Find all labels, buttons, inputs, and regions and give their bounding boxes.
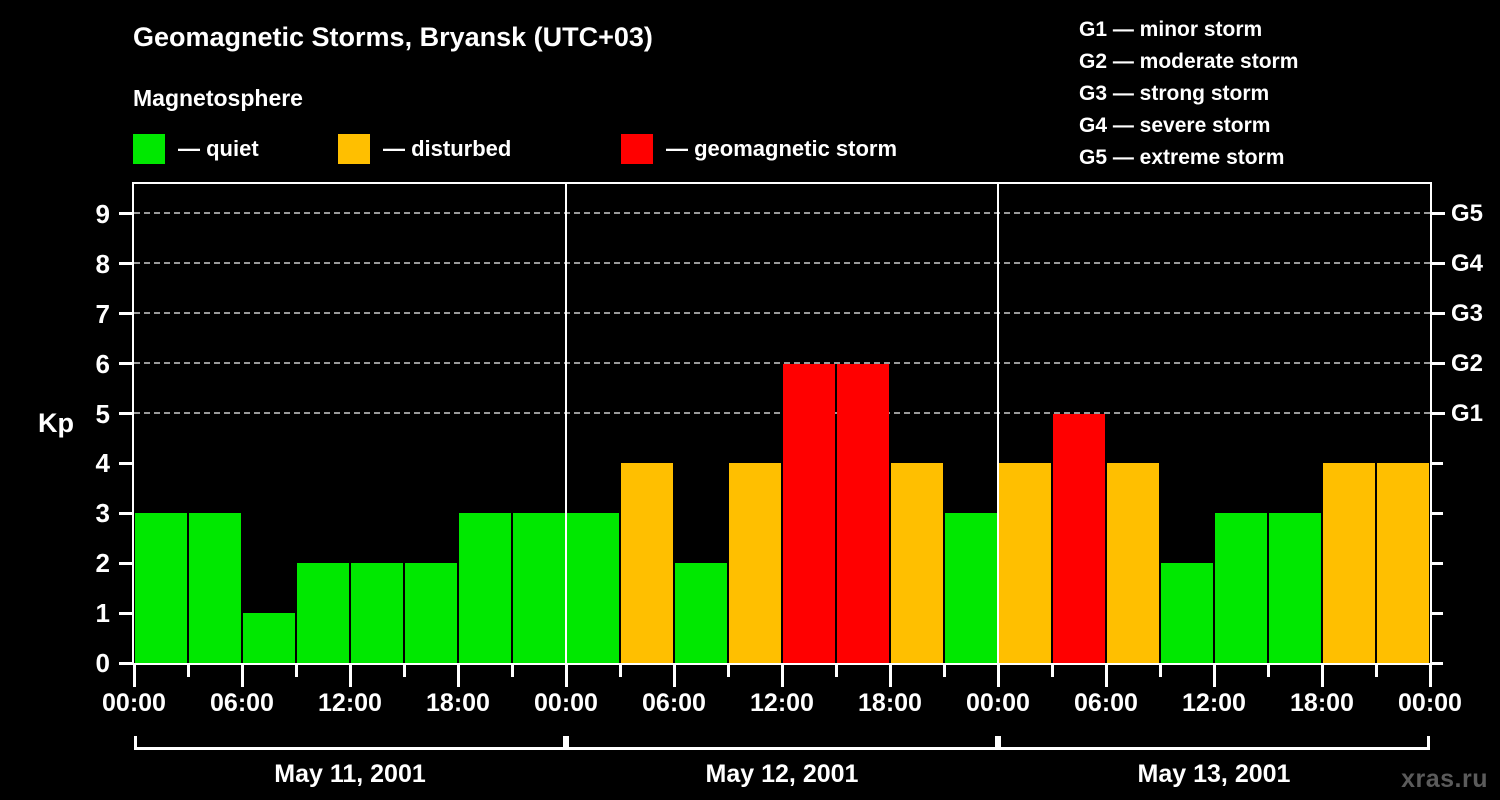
- legend-swatch-quiet: [133, 134, 165, 164]
- date-bracket-3: [998, 736, 1430, 750]
- bar: [567, 513, 619, 663]
- date-label-2: May 12, 2001: [706, 760, 859, 789]
- time-tick-major-48h: [997, 665, 1000, 687]
- time-tick-label-10: 12:00: [1182, 689, 1246, 718]
- g-tick-label-G5: G5: [1451, 202, 1483, 226]
- time-tick-minor-51h: [1051, 665, 1054, 677]
- time-tick-label-0: 00:00: [102, 689, 166, 718]
- gridline-kp-9: [134, 212, 1430, 214]
- g-scale-line-5: G5 — extreme storm: [1079, 142, 1298, 174]
- kp-tick-mark-1: [119, 612, 132, 615]
- bar: [297, 563, 349, 663]
- kp-tick-mark-4: [119, 462, 132, 465]
- time-tick-major-72h: [1429, 665, 1432, 687]
- kp-tick-mark-0: [119, 662, 132, 665]
- kp-axis-title: Kp: [38, 408, 74, 439]
- time-tick-label-8: 00:00: [966, 689, 1030, 718]
- time-tick-major-12h: [349, 665, 352, 687]
- g-scale-line-2: G2 — moderate storm: [1079, 46, 1298, 78]
- time-tick-major-18h: [457, 665, 460, 687]
- bar: [1269, 513, 1321, 663]
- kp-tick-mark-9: [119, 212, 132, 215]
- time-tick-minor-69h: [1375, 665, 1378, 677]
- time-tick-major-30h: [673, 665, 676, 687]
- gridline-kp-5: [134, 412, 1430, 414]
- time-tick-label-12: 00:00: [1398, 689, 1462, 718]
- gridline-kp-6: [134, 362, 1430, 364]
- time-tick-minor-39h: [835, 665, 838, 677]
- bar: [189, 513, 241, 663]
- g-tick-mark-G4: [1432, 262, 1445, 265]
- bar: [891, 463, 943, 663]
- kp-tick-label-2: 2: [70, 550, 110, 576]
- kp-tick-mark-8: [119, 262, 132, 265]
- kp-tick-mark-7: [119, 312, 132, 315]
- plot-inner: [134, 184, 1430, 663]
- bar: [621, 463, 673, 663]
- kp-tick-label-5: 5: [70, 401, 110, 427]
- bar: [783, 364, 835, 663]
- g-scale-line-3: G3 — strong storm: [1079, 78, 1298, 110]
- time-tick-major-0h: [133, 665, 136, 687]
- kp-tick-label-6: 6: [70, 351, 110, 377]
- g-axis-minor-tick-0: [1432, 662, 1443, 665]
- bar: [945, 513, 997, 663]
- time-tick-major-66h: [1321, 665, 1324, 687]
- bar: [243, 613, 295, 663]
- time-tick-label-7: 18:00: [858, 689, 922, 718]
- kp-tick-label-3: 3: [70, 500, 110, 526]
- day-separator-1: [565, 184, 567, 663]
- legend-swatch-geomagnetic-storm: [621, 134, 653, 164]
- time-tick-minor-15h: [403, 665, 406, 677]
- kp-tick-mark-2: [119, 562, 132, 565]
- time-tick-minor-45h: [943, 665, 946, 677]
- bar: [351, 563, 403, 663]
- bar: [1323, 463, 1375, 663]
- bar: [459, 513, 511, 663]
- kp-tick-label-9: 9: [70, 201, 110, 227]
- time-tick-minor-21h: [511, 665, 514, 677]
- bar: [135, 513, 187, 663]
- page-title: Geomagnetic Storms, Bryansk (UTC+03): [133, 22, 653, 53]
- legend-label-quiet: — quiet: [178, 136, 259, 162]
- bar: [999, 463, 1051, 663]
- g-axis-minor-tick-1: [1432, 612, 1443, 615]
- g-tick-label-G1: G1: [1451, 402, 1483, 426]
- g-scale-legend: G1 — minor stormG2 — moderate stormG3 — …: [1079, 14, 1298, 174]
- legend-label-disturbed: — disturbed: [383, 136, 511, 162]
- time-tick-minor-9h: [295, 665, 298, 677]
- kp-tick-mark-5: [119, 412, 132, 415]
- g-axis-minor-tick-2: [1432, 562, 1443, 565]
- time-tick-label-5: 06:00: [642, 689, 706, 718]
- kp-tick-label-8: 8: [70, 251, 110, 277]
- time-tick-minor-27h: [619, 665, 622, 677]
- g-axis-minor-tick-4: [1432, 462, 1443, 465]
- time-tick-minor-63h: [1267, 665, 1270, 677]
- bar: [675, 563, 727, 663]
- date-label-3: May 13, 2001: [1138, 760, 1291, 789]
- time-tick-label-2: 12:00: [318, 689, 382, 718]
- time-tick-label-6: 12:00: [750, 689, 814, 718]
- time-tick-minor-33h: [727, 665, 730, 677]
- g-tick-label-G3: G3: [1451, 302, 1483, 326]
- legend-label-geomagnetic-storm: — geomagnetic storm: [666, 136, 897, 162]
- time-tick-label-3: 18:00: [426, 689, 490, 718]
- legend-item-quiet: — quiet: [133, 133, 259, 165]
- time-tick-major-24h: [565, 665, 568, 687]
- legend-item-disturbed: — disturbed: [338, 133, 511, 165]
- g-tick-mark-G1: [1432, 412, 1445, 415]
- kp-tick-label-1: 1: [70, 600, 110, 626]
- g-scale-line-4: G4 — severe storm: [1079, 110, 1298, 142]
- kp-tick-mark-3: [119, 512, 132, 515]
- g-tick-mark-G5: [1432, 212, 1445, 215]
- g-tick-label-G4: G4: [1451, 252, 1483, 276]
- g-scale-line-1: G1 — minor storm: [1079, 14, 1298, 46]
- g-tick-mark-G2: [1432, 362, 1445, 365]
- time-tick-major-60h: [1213, 665, 1216, 687]
- date-bracket-2: [566, 736, 998, 750]
- kp-tick-label-4: 4: [70, 450, 110, 476]
- kp-tick-label-7: 7: [70, 301, 110, 327]
- time-tick-label-11: 18:00: [1290, 689, 1354, 718]
- kp-tick-mark-6: [119, 362, 132, 365]
- chart-subtitle: Magnetosphere: [133, 85, 303, 112]
- g-axis-minor-tick-3: [1432, 512, 1443, 515]
- time-tick-major-42h: [889, 665, 892, 687]
- chart-canvas: Geomagnetic Storms, Bryansk (UTC+03) Mag…: [0, 0, 1500, 800]
- bar: [1377, 463, 1429, 663]
- plot-area: [132, 182, 1432, 665]
- gridline-kp-8: [134, 262, 1430, 264]
- legend-swatch-disturbed: [338, 134, 370, 164]
- time-tick-label-4: 00:00: [534, 689, 598, 718]
- legend-item-geomagnetic-storm: — geomagnetic storm: [621, 133, 897, 165]
- day-separator-2: [997, 184, 999, 663]
- g-tick-label-G2: G2: [1451, 352, 1483, 376]
- bar: [1053, 414, 1105, 663]
- time-tick-major-54h: [1105, 665, 1108, 687]
- time-tick-major-6h: [241, 665, 244, 687]
- bar: [513, 513, 565, 663]
- bar: [1161, 563, 1213, 663]
- gridline-kp-7: [134, 312, 1430, 314]
- bar: [1215, 513, 1267, 663]
- date-label-1: May 11, 2001: [274, 760, 426, 789]
- bar: [405, 563, 457, 663]
- watermark: xras.ru: [1401, 765, 1488, 794]
- kp-tick-label-0: 0: [70, 650, 110, 676]
- bar: [1107, 463, 1159, 663]
- g-tick-mark-G3: [1432, 312, 1445, 315]
- time-tick-minor-57h: [1159, 665, 1162, 677]
- date-bracket-1: [134, 736, 566, 750]
- time-tick-label-1: 06:00: [210, 689, 274, 718]
- bar: [729, 463, 781, 663]
- bar: [837, 364, 889, 663]
- time-tick-major-36h: [781, 665, 784, 687]
- time-tick-minor-3h: [187, 665, 190, 677]
- time-tick-label-9: 06:00: [1074, 689, 1138, 718]
